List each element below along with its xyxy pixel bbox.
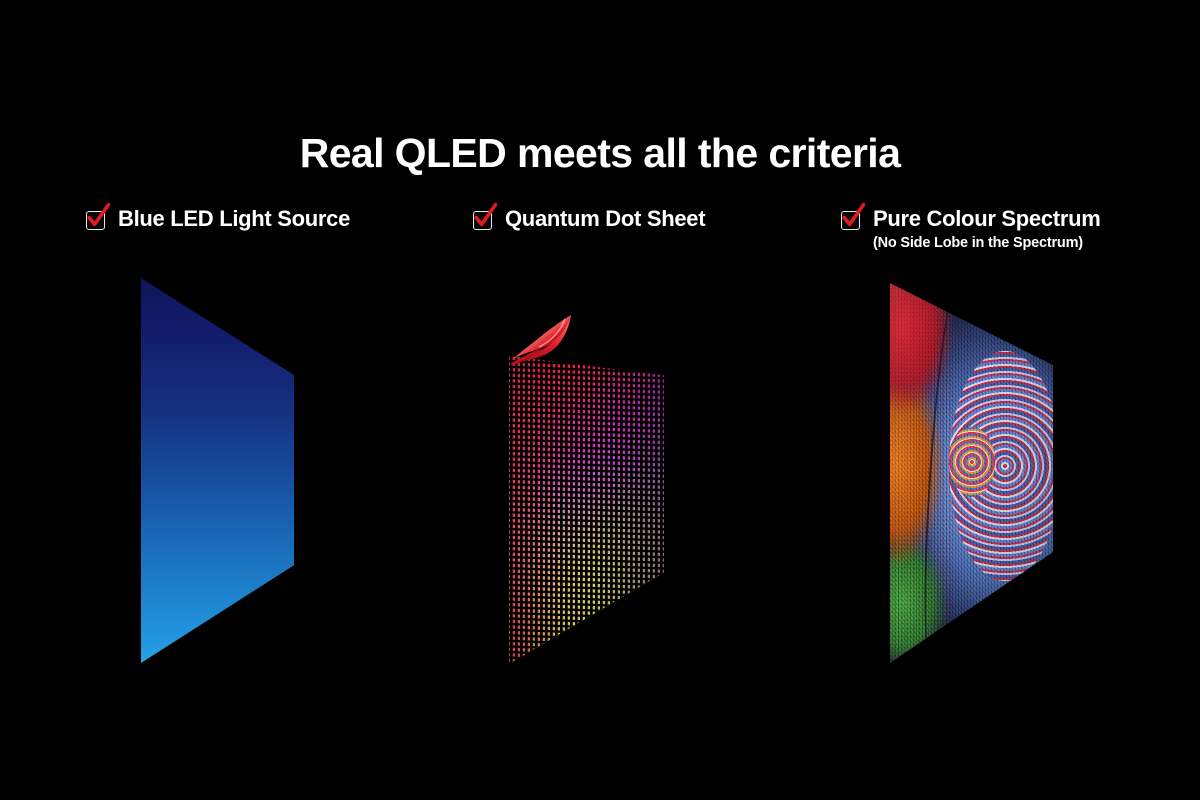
checked-checkbox-icon [841,209,864,232]
checked-checkbox-icon [473,209,496,232]
criterion-header-quantum-dot-sheet: Quantum Dot Sheet [473,206,705,232]
page-title: Real QLED meets all the criteria [0,131,1200,176]
criterion-title: Quantum Dot Sheet [505,206,705,232]
slide-canvas: Real QLED meets all the criteria Blue LE… [0,0,1200,800]
checked-checkbox-icon [86,209,109,232]
quantum-dot-panel-graphic [509,339,664,664]
criterion-header-blue-led-light-source: Blue LED Light Source [86,206,350,232]
criterion-header-pure-colour-spectrum: Pure Colour Spectrum (No Side Lobe in th… [841,206,1100,251]
blue-led-panel-graphic [141,278,294,663]
criterion-subtitle: (No Side Lobe in the Spectrum) [873,235,1100,251]
criterion-title: Blue LED Light Source [118,206,350,232]
criterion-title: Pure Colour Spectrum [873,206,1100,232]
mandala-tapestry-panel-graphic [890,283,1053,663]
peeling-corner-icon [509,313,599,379]
